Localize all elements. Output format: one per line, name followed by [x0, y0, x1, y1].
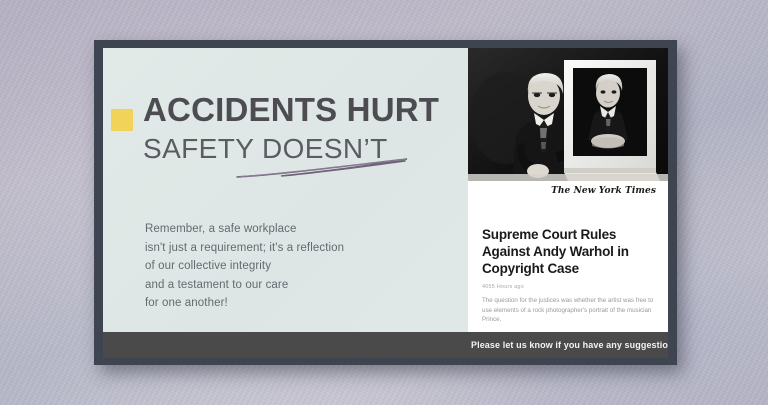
news-timestamp: 4055 Hours ago: [482, 284, 524, 290]
yellow-square-accent: [111, 109, 133, 131]
ticker-message: Please let us know if you have any sugge…: [471, 340, 668, 350]
body-line-5: for one another!: [145, 294, 445, 313]
framed-portrait: [564, 60, 660, 181]
display-monitor: ACCIDENTS HURT SAFETY DOESN’T Remember, …: [94, 40, 677, 365]
body-line-3: of our collective integrity: [145, 257, 445, 276]
slide-headline-block: ACCIDENTS HURT SAFETY DOESN’T: [143, 93, 473, 164]
warhol-photo-illustration: [468, 48, 668, 181]
scene-background: ACCIDENTS HURT SAFETY DOESN’T Remember, …: [0, 0, 768, 405]
news-headline[interactable]: Supreme Court Rules Against Andy Warhol …: [482, 226, 654, 277]
news-card: The New York Times Supreme Court Rules A…: [468, 48, 668, 358]
body-line-2: isn't just a requirement; it's a reflect…: [145, 239, 445, 258]
slide-body-copy: Remember, a safe workplace isn't just a …: [145, 220, 445, 313]
news-summary: The question for the justices was whethe…: [482, 296, 656, 325]
headline-primary: ACCIDENTS HURT: [143, 93, 473, 128]
body-line-4: and a testament to our care: [145, 276, 445, 295]
headline-secondary: SAFETY DOESN’T: [143, 134, 473, 164]
nyt-masthead: The New York Times: [468, 186, 668, 196]
monitor-screen: ACCIDENTS HURT SAFETY DOESN’T Remember, …: [103, 48, 668, 358]
slide-left-column: ACCIDENTS HURT SAFETY DOESN’T Remember, …: [103, 48, 477, 358]
body-line-1: Remember, a safe workplace: [145, 220, 445, 239]
ticker-bar: Please let us know if you have any sugge…: [103, 332, 668, 358]
news-photo: [468, 48, 668, 181]
presentation-slide: ACCIDENTS HURT SAFETY DOESN’T Remember, …: [103, 48, 668, 358]
